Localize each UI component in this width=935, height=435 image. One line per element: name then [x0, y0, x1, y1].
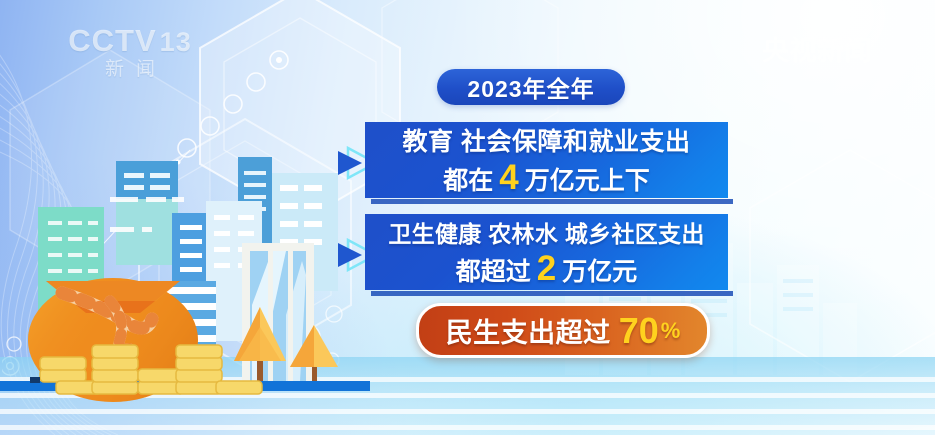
broadcast-graphic: CCTV13 新闻 央视新闻 2023年全年 教育 社会保障和就业支出 都在 4… — [0, 0, 935, 435]
stat-panel-health-line1: 卫生健康 农林水 城乡社区支出 — [388, 215, 704, 249]
money-bag-city-illustration — [0, 155, 370, 435]
highlight-badge-unit: % — [659, 318, 681, 344]
stat-panel-health-suffix: 万亿元 — [562, 252, 637, 288]
stat-panel-education-number: 4 — [493, 158, 524, 198]
channel-watermark: 央视新闻 — [727, 30, 907, 72]
stat-panel-health-prefix: 都超过 — [456, 252, 531, 288]
stat-panel-health: 卫生健康 农林水 城乡社区支出 都超过 2 万亿元 — [365, 214, 728, 290]
cctv-logo-main: CCTV13 — [55, 24, 205, 59]
highlight-badge-number: 70 — [611, 310, 659, 352]
highlight-badge-text: 民生支出超过 — [446, 311, 611, 350]
cctv-logo-text: CCTV — [68, 23, 156, 58]
cctv-logo: CCTV13 新闻 — [55, 24, 205, 86]
stat-panel-education-line2: 都在 4 万亿元上下 — [443, 158, 650, 198]
stat-panel-health-number: 2 — [531, 249, 562, 289]
stat-panel-education-prefix: 都在 — [443, 161, 493, 197]
year-badge: 2023年全年 — [437, 69, 625, 105]
cctv-logo-number: 13 — [157, 27, 192, 57]
stat-panel-education-line1: 教育 社会保障和就业支出 — [403, 122, 691, 158]
stat-panel-education: 教育 社会保障和就业支出 都在 4 万亿元上下 — [365, 122, 728, 198]
year-badge-label: 2023年全年 — [467, 70, 594, 104]
stat-panel-education-suffix: 万亿元上下 — [525, 161, 650, 197]
cctv-logo-sub: 新闻 — [55, 59, 205, 81]
stat-panel-health-line2: 都超过 2 万亿元 — [456, 249, 638, 289]
highlight-badge: 民生支出超过 70 % — [416, 303, 710, 358]
